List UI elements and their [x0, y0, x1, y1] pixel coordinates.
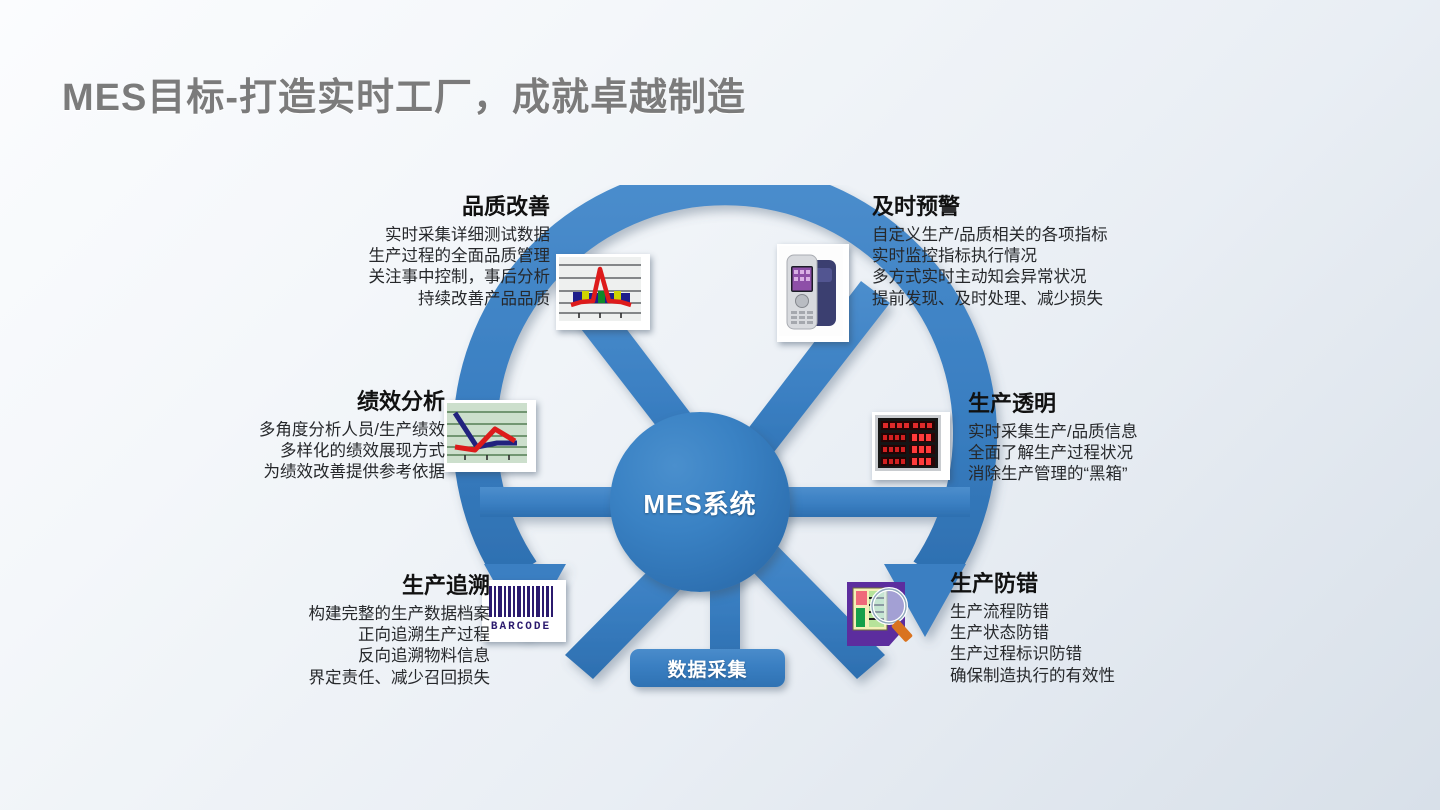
block-alert-line: 提前发现、及时处理、减少损失: [872, 289, 1202, 310]
led-display-icon: [872, 412, 950, 480]
block-performance: 绩效分析 多角度分析人员/生产绩效 多样化的绩效展现方式 为绩效改善提供参考依据: [185, 388, 445, 484]
data-collection-label: 数据采集: [667, 655, 747, 682]
block-alert-line: 自定义生产/品质相关的各项指标: [872, 225, 1202, 246]
barcode-caption: BARCODE: [491, 621, 551, 633]
block-traceability: 生产追溯 构建完整的生产数据档案 正向追溯生产过程 反向追溯物料信息 界定责任、…: [215, 572, 490, 689]
block-quality-line: 关注事中控制，事后分析: [250, 267, 550, 288]
block-alert: 及时预警 自定义生产/品质相关的各项指标 实时监控指标执行情况 多方式实时主动知…: [872, 193, 1202, 310]
block-performance-heading: 绩效分析: [185, 388, 445, 417]
block-transparency-line: 消除生产管理的“黑箱”: [968, 464, 1268, 485]
block-pokayoke-line: 生产过程标识防错: [950, 644, 1250, 665]
data-collection-node[interactable]: 数据采集: [630, 649, 785, 687]
block-pokayoke-line: 生产状态防错: [950, 623, 1250, 644]
block-pokayoke: 生产防错 生产流程防错 生产状态防错 生产过程标识防错 确保制造执行的有效性: [950, 570, 1250, 687]
block-quality-line: 持续改善产品品质: [250, 289, 550, 310]
block-traceability-line: 构建完整的生产数据档案: [215, 604, 490, 625]
block-transparency-heading: 生产透明: [968, 390, 1268, 419]
bar-chart-icon: [556, 254, 650, 330]
block-transparency-line: 实时采集生产/品质信息: [968, 422, 1268, 443]
block-quality-line: 生产过程的全面品质管理: [250, 246, 550, 267]
block-pokayoke-line: 确保制造执行的有效性: [950, 666, 1250, 687]
barcode-icon: BARCODE: [482, 580, 566, 642]
document-magnifier-icon: [843, 580, 923, 648]
page-title: MES目标-打造实时工厂，成就卓越制造: [62, 66, 746, 121]
block-traceability-line: 反向追溯物料信息: [215, 646, 490, 667]
block-quality-line: 实时采集详细测试数据: [250, 225, 550, 246]
hub-node[interactable]: MES系统: [610, 412, 790, 592]
block-performance-line: 多角度分析人员/生产绩效: [185, 420, 445, 441]
mobile-phone-icon: [777, 244, 849, 342]
line-chart-icon: [444, 400, 536, 472]
slide-canvas: MES目标-打造实时工厂，成就卓越制造: [0, 0, 1440, 810]
block-alert-line: 实时监控指标执行情况: [872, 246, 1202, 267]
block-performance-line: 多样化的绩效展现方式: [185, 441, 445, 462]
block-performance-line: 为绩效改善提供参考依据: [185, 462, 445, 483]
block-pokayoke-line: 生产流程防错: [950, 602, 1250, 623]
block-transparency: 生产透明 实时采集生产/品质信息 全面了解生产过程状况 消除生产管理的“黑箱”: [968, 390, 1268, 486]
block-quality: 品质改善 实时采集详细测试数据 生产过程的全面品质管理 关注事中控制，事后分析 …: [250, 193, 550, 310]
block-alert-line: 多方式实时主动知会异常状况: [872, 267, 1202, 288]
block-transparency-line: 全面了解生产过程状况: [968, 443, 1268, 464]
block-traceability-line: 正向追溯生产过程: [215, 625, 490, 646]
block-traceability-heading: 生产追溯: [215, 572, 490, 601]
block-pokayoke-heading: 生产防错: [950, 570, 1250, 599]
block-quality-heading: 品质改善: [250, 193, 550, 222]
block-traceability-line: 界定责任、减少召回损失: [215, 668, 490, 689]
hub-label: MES系统: [643, 484, 756, 521]
block-alert-heading: 及时预警: [872, 193, 1202, 222]
